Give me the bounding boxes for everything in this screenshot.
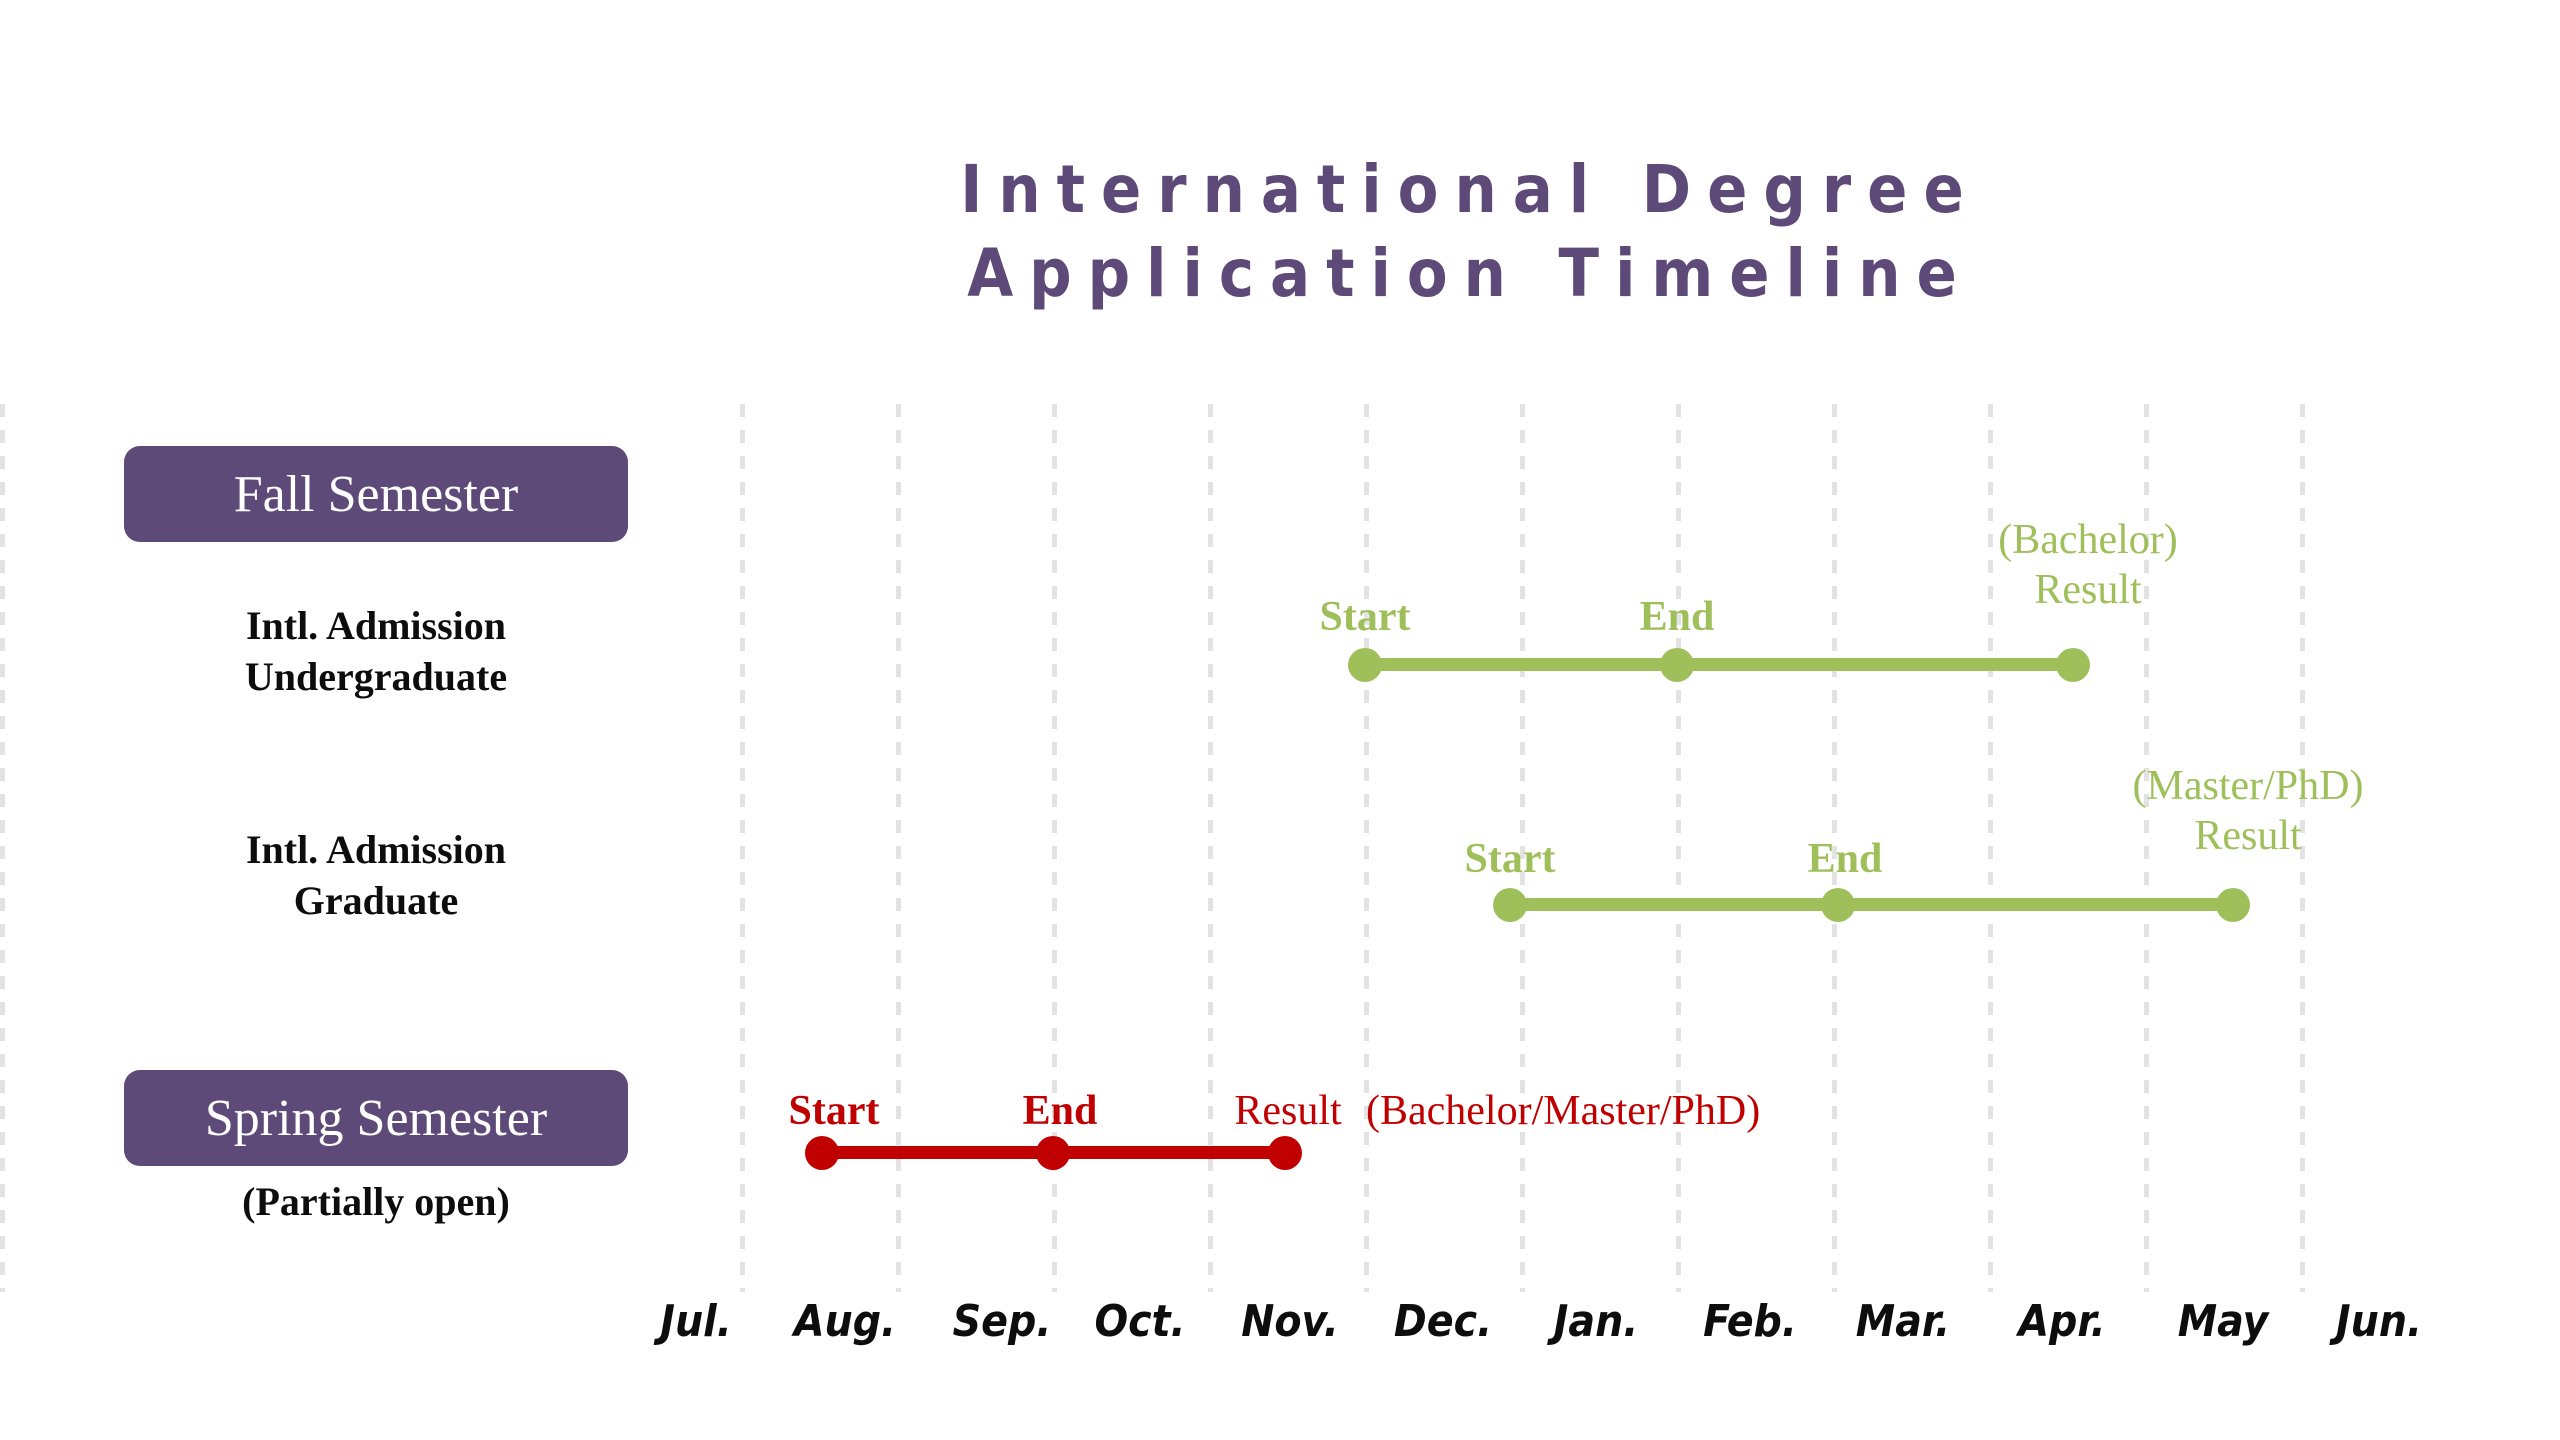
month-label-jun: Jun. xyxy=(2336,1296,2422,1347)
page-title: International Degree Application Timelin… xyxy=(700,148,2240,317)
row-label-graduate: Intl. Admission Graduate xyxy=(106,824,646,926)
spring-end-label: End xyxy=(1023,1087,1098,1137)
month-label-jan: Jan. xyxy=(1554,1296,1639,1347)
month-label-aug: Aug. xyxy=(794,1296,896,1347)
month-label-sep: Sep. xyxy=(953,1296,1052,1347)
month-label-jul: Jul. xyxy=(660,1296,732,1347)
month-label-dec: Dec. xyxy=(1394,1296,1492,1347)
undergraduate-timeline-bar xyxy=(1365,658,2073,671)
undergraduate-degree-note: (Bachelor) xyxy=(1998,516,2178,566)
month-label-may: May xyxy=(2178,1296,2269,1347)
row-label-undergraduate: Intl. Admission Undergraduate xyxy=(106,600,646,702)
undergraduate-end-label: End xyxy=(1640,593,1715,643)
spring-degree-note: (Bachelor/Master/PhD) xyxy=(1366,1087,1760,1137)
month-label-apr: Apr. xyxy=(2018,1296,2105,1347)
spring-semester-badge: Spring Semester xyxy=(124,1070,628,1166)
timeline-infographic: International Degree Application Timelin… xyxy=(0,0,2560,1440)
spring-end-marker[interactable] xyxy=(1036,1136,1070,1170)
row-label-graduate-line-2: Graduate xyxy=(106,875,646,926)
undergraduate-start-label: Start xyxy=(1320,593,1411,643)
spring-start-marker[interactable] xyxy=(805,1136,839,1170)
gridline-mar xyxy=(1988,404,1993,1292)
graduate-start-marker[interactable] xyxy=(1493,888,1527,922)
gridline-jan xyxy=(1676,404,1681,1292)
gridline-aug xyxy=(0,404,5,1292)
graduate-result-marker[interactable] xyxy=(2216,888,2250,922)
graduate-timeline-bar xyxy=(1510,898,2233,911)
spring-result-marker[interactable] xyxy=(1268,1136,1302,1170)
undergraduate-result-marker[interactable] xyxy=(2056,648,2090,682)
graduate-end-marker[interactable] xyxy=(1821,888,1855,922)
fall-semester-badge: Fall Semester xyxy=(124,446,628,542)
month-label-mar: Mar. xyxy=(1856,1296,1950,1347)
page-title-line-1: International Degree xyxy=(700,148,2240,232)
gridline-jul xyxy=(740,404,745,1292)
graduate-result-label: (Master/PhD) Result xyxy=(2133,762,2364,861)
undergraduate-result-label: (Bachelor) Result xyxy=(1998,516,2178,615)
spring-start-label: Start xyxy=(789,1087,880,1137)
row-label-undergraduate-line-2: Undergraduate xyxy=(106,651,646,702)
page-title-line-2: Application Timeline xyxy=(700,232,2240,316)
month-label-feb: Feb. xyxy=(1703,1296,1797,1347)
gridline-nov xyxy=(1364,404,1369,1292)
graduate-result-text: Result xyxy=(2133,812,2364,862)
undergraduate-start-marker[interactable] xyxy=(1348,648,1382,682)
graduate-degree-note: (Master/PhD) xyxy=(2133,762,2364,812)
undergraduate-end-marker[interactable] xyxy=(1660,648,1694,682)
row-label-graduate-line-1: Intl. Admission xyxy=(106,824,646,875)
month-label-nov: Nov. xyxy=(1241,1296,1339,1347)
row-label-undergraduate-line-1: Intl. Admission xyxy=(106,600,646,651)
spring-semester-sub-label: (Partially open) xyxy=(106,1178,646,1225)
spring-result-label: Result xyxy=(1234,1087,1341,1137)
graduate-end-label: End xyxy=(1808,835,1883,885)
graduate-start-label: Start xyxy=(1465,835,1556,885)
undergraduate-result-text: Result xyxy=(1998,566,2178,616)
month-label-oct: Oct. xyxy=(1094,1296,1185,1347)
